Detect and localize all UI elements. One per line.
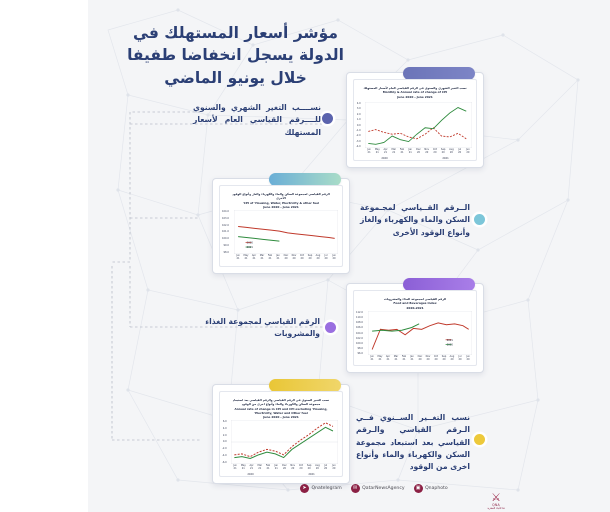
chart-cpi-monthly-annual: نسب التغير الشهري والسنوي في الرقم القيا… (353, 79, 477, 161)
card-4-pill (269, 379, 341, 392)
item-label-1: نســــب التغير الشهري والسنوي للــــرقم … (193, 102, 321, 139)
instagram-icon: ▣ (414, 484, 423, 493)
qna-emblem-icon: ⚔ (491, 492, 501, 503)
chart-4-xticks: Jun 20Jul 20Aug 20Sep 20Oct 20Nov 20Dec … (231, 465, 338, 470)
twitter-handle: QatarNewsAgency (362, 486, 404, 491)
chart-1-title: نسب التغير الشهري والسنوي في الرقم القيا… (361, 86, 468, 99)
svg-text:2020: 2020 (447, 342, 454, 346)
chart-2-plot: 2020 2021 (234, 210, 338, 254)
chart-1-xticks: Jun 20Jul 20Aug 20Sep 20Oct 20Nov 20Dec … (365, 149, 472, 154)
item-label-4: نسب التغــير الســنوي فــي الـرقم القياس… (356, 412, 470, 473)
chart-card-3: الرقم القياسي لمجموعة الغذاء والمشروبات … (346, 283, 484, 373)
chart-3-plot: 2021 2020 (368, 311, 472, 355)
item-label-2: الــرقم القــياسي لمجـموعة السكن والماء … (360, 202, 470, 239)
svg-text:2021: 2021 (247, 245, 254, 249)
qna-logo-subtext: قنا للأنباء القطرية (487, 507, 504, 510)
node-dot-2 (474, 214, 485, 225)
chart-4-yaxis: 6.04.02.00.0-2.0-4.0-6.0 (222, 420, 227, 464)
card-1-pill (403, 67, 475, 80)
svg-text:2021: 2021 (447, 338, 454, 342)
node-dot-1 (322, 113, 333, 124)
instagram-handle: Qnaphoto (425, 486, 448, 491)
card-2-pill (269, 173, 341, 186)
twitter-icon: ✉ (351, 484, 360, 493)
chart-card-4: نسب التغير السنوي في الرقم القياسي والرق… (212, 384, 350, 484)
chart-2-xticks: Jun 20Jul 20Aug 20Sep 20Oct 20Nov 20Dec … (234, 255, 338, 260)
telegram-icon: ➤ (300, 484, 309, 493)
chart-3-yaxis: 112.0110.0108.0106.0104.0102.0100.098.09… (356, 311, 363, 355)
chart-1-plot (365, 102, 472, 148)
qna-logo: ⚔ QNA قنا للأنباء القطرية (478, 486, 514, 510)
svg-text:2020: 2020 (247, 240, 254, 244)
chart-card-2: الرقم القياسي لمجموعة السكن والماء والكه… (212, 178, 350, 274)
node-dot-4 (474, 434, 485, 445)
chart-1-year-bands: 20202021 (354, 157, 476, 160)
chart-1-yaxis: 4.03.02.01.00.0-1.0-2.0-3.0-4.0 (356, 102, 361, 148)
chart-4-year-bands: 20202021 (220, 473, 342, 476)
node-dot-3 (325, 322, 336, 333)
chart-card-1: نسب التغير الشهري والسنوي في الرقم القيا… (346, 72, 484, 168)
chart-2-yaxis: 104.0103.0102.0101.0100.099.098.0 (222, 210, 229, 254)
chart-housing-utilities: الرقم القياسي لمجموعة السكن والماء والكه… (219, 185, 343, 267)
infographic-page: مؤشر أسعار المستهلك في الدولة يسجل انخفا… (0, 0, 610, 512)
social-telegram[interactable]: ➤ Qnatelegram (300, 484, 342, 493)
card-3-pill (403, 278, 475, 291)
social-twitter[interactable]: ✉ QatarNewsAgency (351, 484, 405, 493)
footer-socials: ➤ Qnatelegram ✉ QatarNewsAgency ▣ Qnapho… (300, 484, 490, 493)
chart-annual-cpi-excl-housing: نسب التغير السنوي في الرقم القياسي والرق… (219, 391, 343, 477)
chart-food-beverages: الرقم القياسي لمجموعة الغذاء والمشروبات … (353, 290, 477, 366)
telegram-handle: Qnatelegram (312, 486, 342, 491)
chart-3-xticks: Jun 20Jul 20Aug 20Sep 20Oct 20Nov 20Dec … (368, 356, 472, 361)
social-instagram[interactable]: ▣ Qnaphoto (414, 484, 448, 493)
page-title: مؤشر أسعار المستهلك في الدولة يسجل انخفا… (118, 22, 353, 89)
chart-4-plot (231, 420, 338, 464)
chart-4-title: نسب التغير السنوي في الرقم القياسي والرق… (227, 398, 334, 420)
chart-3-title: الرقم القياسي لمجموعة الغذاء والمشروبات … (361, 297, 468, 310)
chart-2-title: الرقم القياسي لمجموعة السكن والماء والكه… (227, 192, 334, 209)
item-label-3: الرقم القياسي لمجموعة الغذاء والمشروبات (196, 316, 320, 341)
